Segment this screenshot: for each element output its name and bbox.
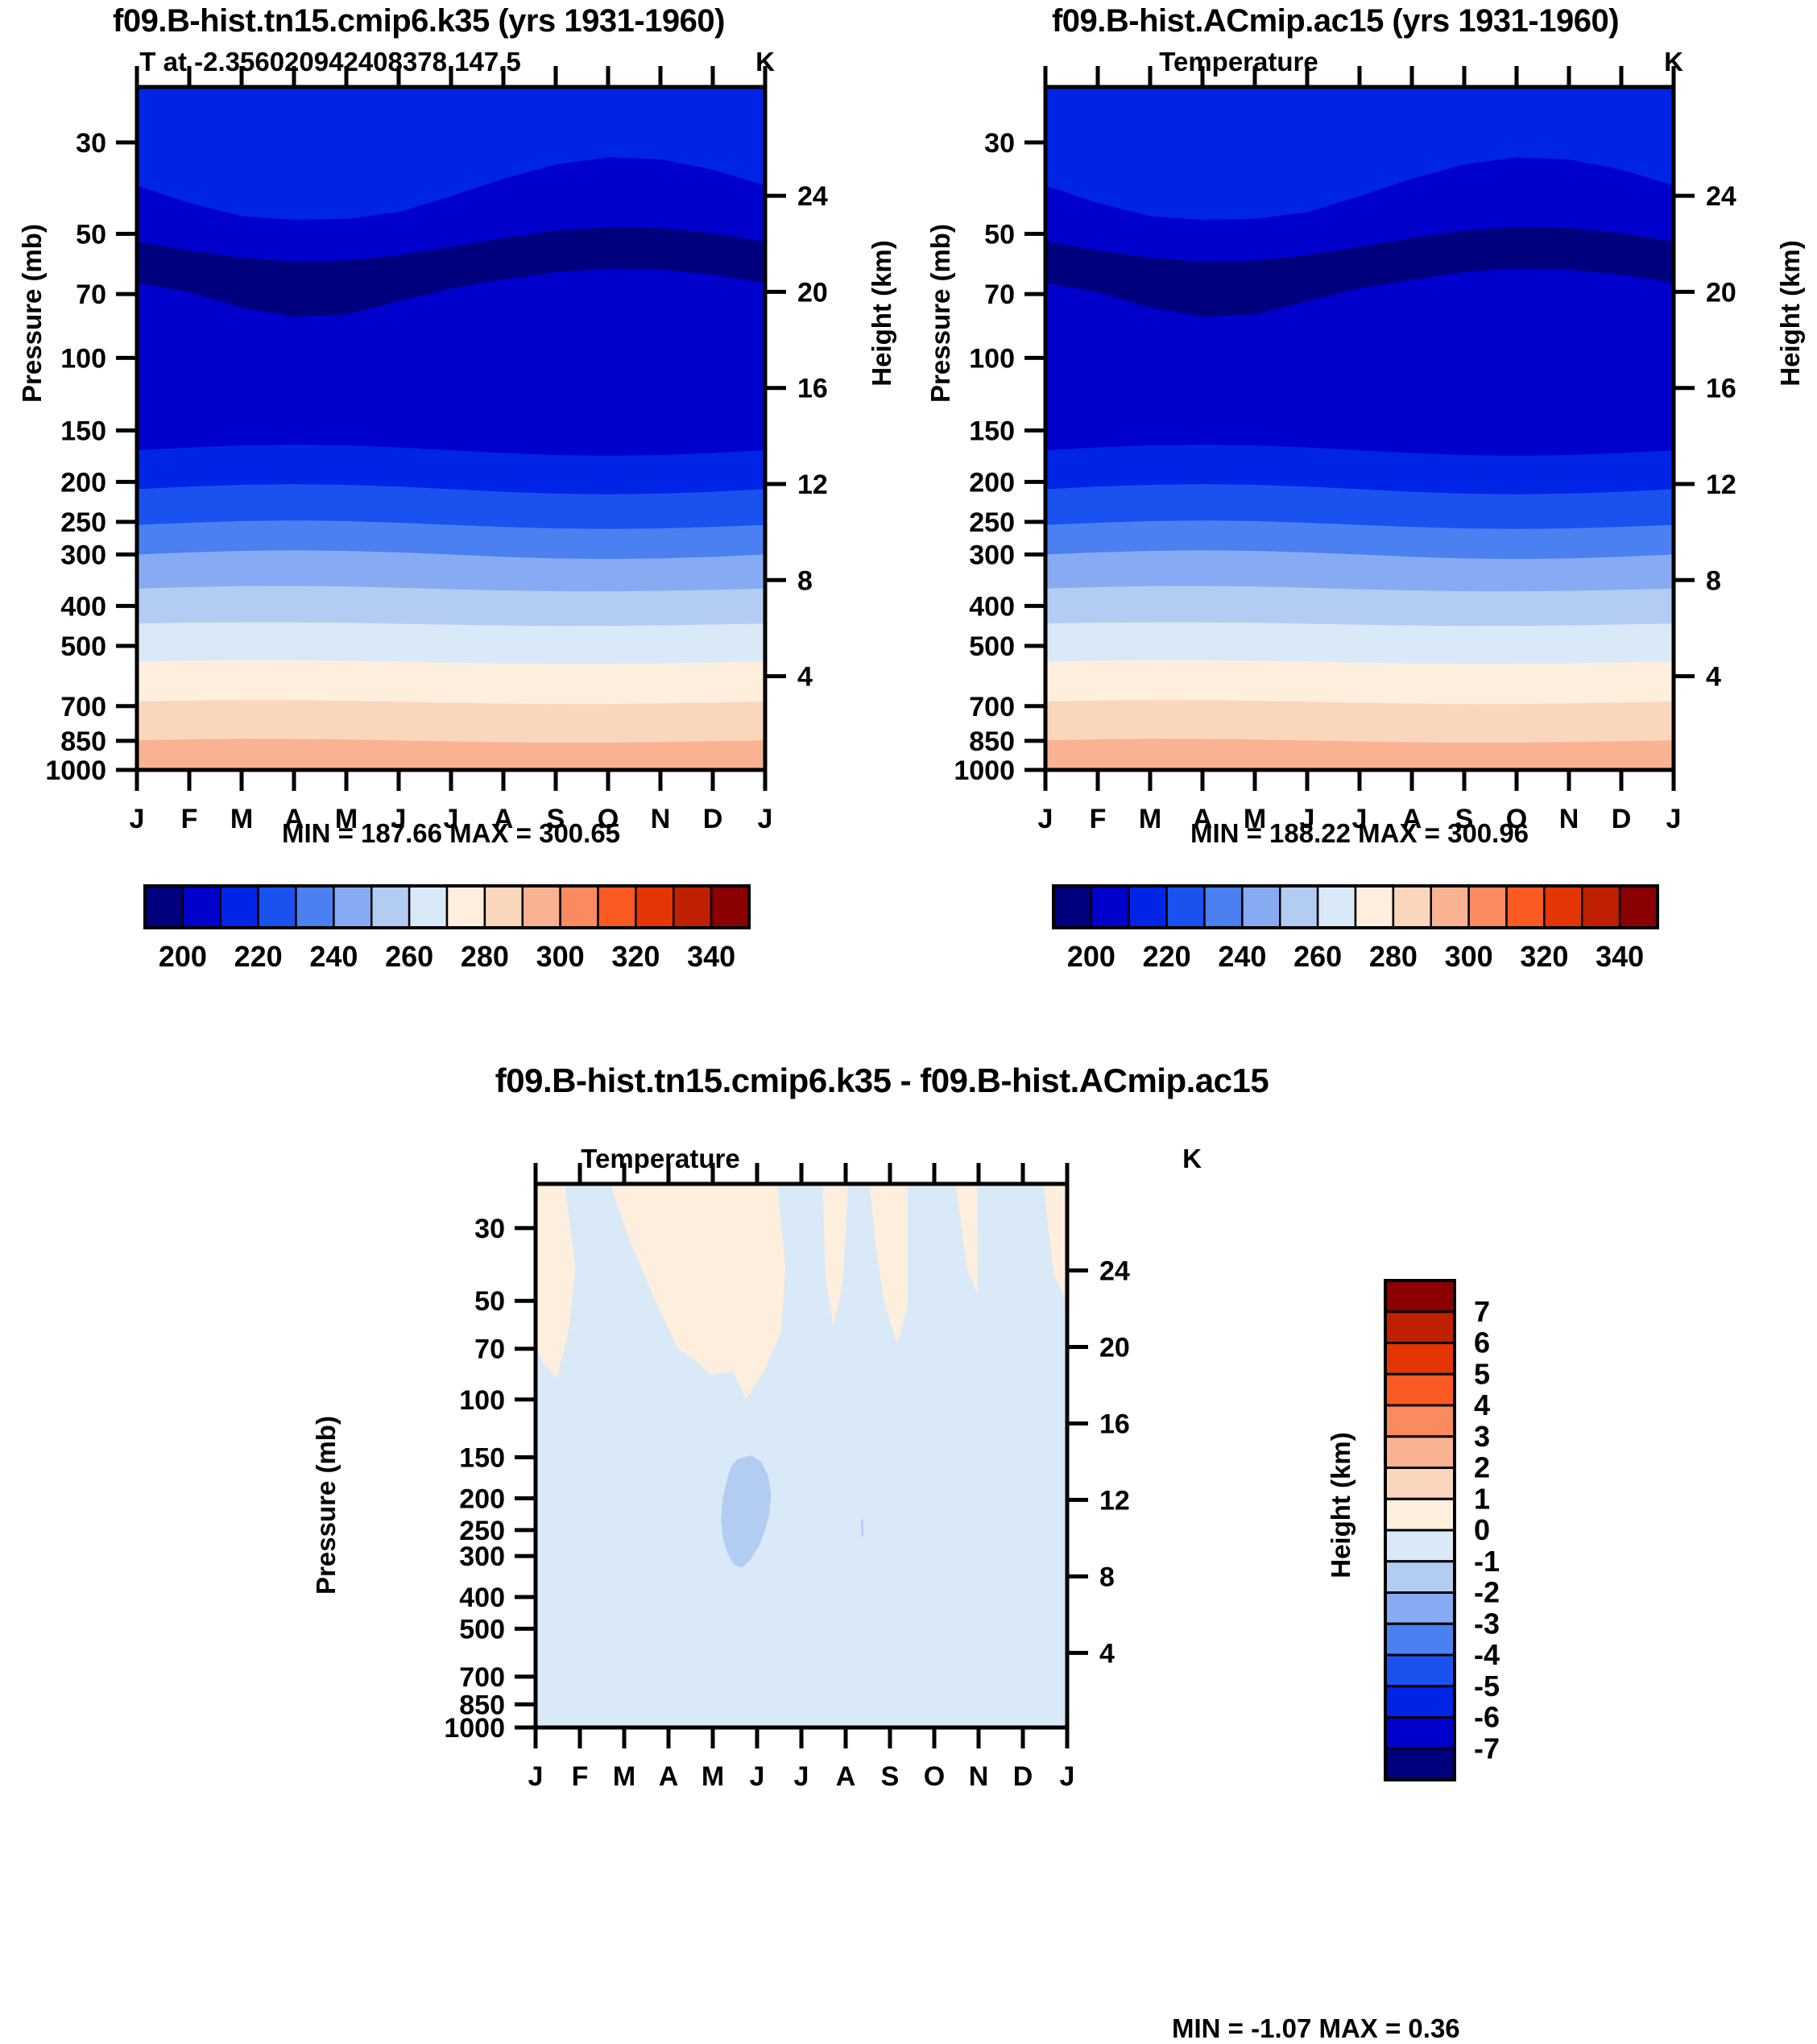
svg-text:1000: 1000: [45, 755, 106, 786]
svg-text:24: 24: [1099, 1256, 1130, 1287]
svg-text:20: 20: [1099, 1333, 1130, 1363]
svg-text:850: 850: [969, 726, 1015, 757]
svg-text:260: 260: [1293, 940, 1342, 973]
svg-text:12: 12: [797, 470, 828, 500]
svg-text:500: 500: [969, 631, 1015, 662]
svg-text:300: 300: [60, 540, 106, 571]
svg-text:150: 150: [969, 416, 1015, 446]
svg-text:N: N: [969, 1761, 989, 1792]
svg-text:50: 50: [76, 219, 106, 250]
svg-text:30: 30: [474, 1214, 505, 1244]
svg-text:240: 240: [1218, 940, 1266, 973]
svg-text:1: 1: [1474, 1482, 1490, 1515]
svg-text:850: 850: [60, 726, 106, 757]
svg-text:1000: 1000: [444, 1713, 505, 1744]
svg-text:340: 340: [1596, 940, 1644, 973]
svg-text:4: 4: [1099, 1638, 1115, 1669]
svg-text:700: 700: [459, 1662, 505, 1693]
svg-text:400: 400: [60, 591, 106, 622]
svg-text:30: 30: [76, 128, 106, 159]
svg-text:400: 400: [459, 1583, 505, 1613]
svg-text:12: 12: [1099, 1485, 1130, 1516]
svg-text:300: 300: [969, 540, 1015, 571]
svg-text:-2: -2: [1474, 1576, 1500, 1609]
svg-text:50: 50: [984, 219, 1015, 250]
svg-text:4: 4: [1474, 1388, 1490, 1421]
svg-text:220: 220: [234, 940, 283, 973]
svg-text:500: 500: [459, 1614, 505, 1645]
panel-top-left-colorbar: 200220240260280300320340: [0, 878, 908, 999]
svg-text:70: 70: [474, 1334, 505, 1365]
panel-top-left: f09.B-hist.tn15.cmip6.k35 (yrs 1931-1960…: [0, 0, 908, 999]
svg-text:0: 0: [1474, 1513, 1490, 1546]
svg-text:150: 150: [459, 1442, 505, 1473]
svg-text:8: 8: [797, 565, 813, 596]
svg-text:D: D: [1013, 1761, 1033, 1792]
svg-text:300: 300: [1445, 940, 1493, 973]
svg-text:100: 100: [60, 343, 106, 374]
svg-text:200: 200: [459, 1483, 505, 1514]
svg-text:J: J: [528, 1761, 544, 1792]
svg-text:F: F: [572, 1761, 589, 1792]
svg-text:16: 16: [797, 374, 828, 404]
svg-text:4: 4: [1706, 662, 1721, 693]
panel-top-right-colorbar: 200220240260280300320340: [908, 878, 1817, 999]
svg-text:70: 70: [76, 279, 106, 310]
svg-text:300: 300: [536, 940, 585, 973]
svg-text:12: 12: [1706, 470, 1736, 500]
svg-text:150: 150: [60, 416, 106, 446]
svg-text:20: 20: [1706, 277, 1736, 308]
panel-top-left-minmax: MIN = 187.66 MAX = 300.65: [137, 818, 765, 849]
svg-text:8: 8: [1099, 1562, 1115, 1592]
svg-text:A: A: [659, 1761, 679, 1792]
svg-text:O: O: [924, 1761, 945, 1792]
svg-text:4: 4: [797, 662, 813, 693]
panel-difference-colorbar: 76543210-1-2-3-4-5-6-7: [1369, 1272, 1691, 1804]
svg-text:M: M: [613, 1761, 635, 1792]
svg-text:16: 16: [1706, 374, 1736, 404]
svg-text:340: 340: [687, 940, 735, 973]
svg-text:20: 20: [797, 277, 828, 308]
svg-text:30: 30: [984, 128, 1015, 159]
svg-text:3: 3: [1474, 1420, 1490, 1453]
svg-text:-1: -1: [1474, 1545, 1500, 1578]
svg-text:200: 200: [159, 940, 207, 973]
svg-text:-6: -6: [1474, 1701, 1500, 1734]
svg-text:J: J: [1060, 1761, 1075, 1792]
svg-text:700: 700: [969, 692, 1015, 722]
svg-text:70: 70: [984, 279, 1015, 310]
svg-text:24: 24: [1706, 181, 1736, 212]
svg-text:200: 200: [969, 467, 1015, 498]
svg-text:J: J: [750, 1761, 765, 1792]
svg-text:A: A: [836, 1761, 856, 1792]
svg-text:250: 250: [969, 507, 1015, 538]
svg-text:8: 8: [1706, 565, 1721, 596]
panel-top-right-plot: JFMAMJJASONDJ305070100150200250300400500…: [908, 0, 1817, 999]
svg-text:S: S: [881, 1761, 900, 1792]
svg-text:50: 50: [474, 1286, 505, 1317]
svg-text:250: 250: [60, 507, 106, 538]
svg-text:5: 5: [1474, 1357, 1490, 1390]
svg-text:100: 100: [969, 343, 1015, 374]
svg-text:1000: 1000: [954, 755, 1015, 786]
svg-text:280: 280: [461, 940, 509, 973]
panel-top-right-minmax: MIN = 188.22 MAX = 300.96: [1045, 818, 1674, 849]
svg-text:100: 100: [459, 1385, 505, 1416]
svg-text:M: M: [702, 1761, 724, 1792]
svg-text:-5: -5: [1474, 1670, 1500, 1703]
svg-text:J: J: [794, 1761, 809, 1792]
panel-difference: f09.B-hist.tn15.cmip6.k35 - f09.B-hist.A…: [0, 1039, 1817, 1901]
svg-text:200: 200: [1067, 940, 1115, 973]
svg-text:220: 220: [1143, 940, 1191, 973]
svg-text:260: 260: [385, 940, 433, 973]
svg-text:-7: -7: [1474, 1732, 1500, 1765]
svg-text:200: 200: [60, 467, 106, 498]
svg-text:16: 16: [1099, 1409, 1130, 1439]
svg-text:300: 300: [459, 1541, 505, 1572]
svg-text:280: 280: [1369, 940, 1418, 973]
panel-top-left-plot: JFMAMJJASONDJ305070100150200250300400500…: [0, 0, 908, 999]
svg-text:700: 700: [60, 692, 106, 722]
svg-text:7: 7: [1474, 1295, 1490, 1328]
svg-text:320: 320: [611, 940, 660, 973]
panel-difference-minmax: MIN = -1.07 MAX = 0.36: [1172, 2013, 1623, 2044]
svg-text:6: 6: [1474, 1326, 1490, 1359]
svg-text:24: 24: [797, 181, 828, 212]
svg-text:-3: -3: [1474, 1607, 1500, 1640]
svg-text:500: 500: [60, 631, 106, 662]
svg-text:320: 320: [1520, 940, 1568, 973]
svg-text:-4: -4: [1474, 1638, 1500, 1671]
panel-top-right: f09.B-hist.ACmip.ac15 (yrs 1931-1960) Te…: [908, 0, 1817, 999]
svg-text:400: 400: [969, 591, 1015, 622]
svg-text:2: 2: [1474, 1451, 1490, 1484]
svg-text:240: 240: [309, 940, 358, 973]
